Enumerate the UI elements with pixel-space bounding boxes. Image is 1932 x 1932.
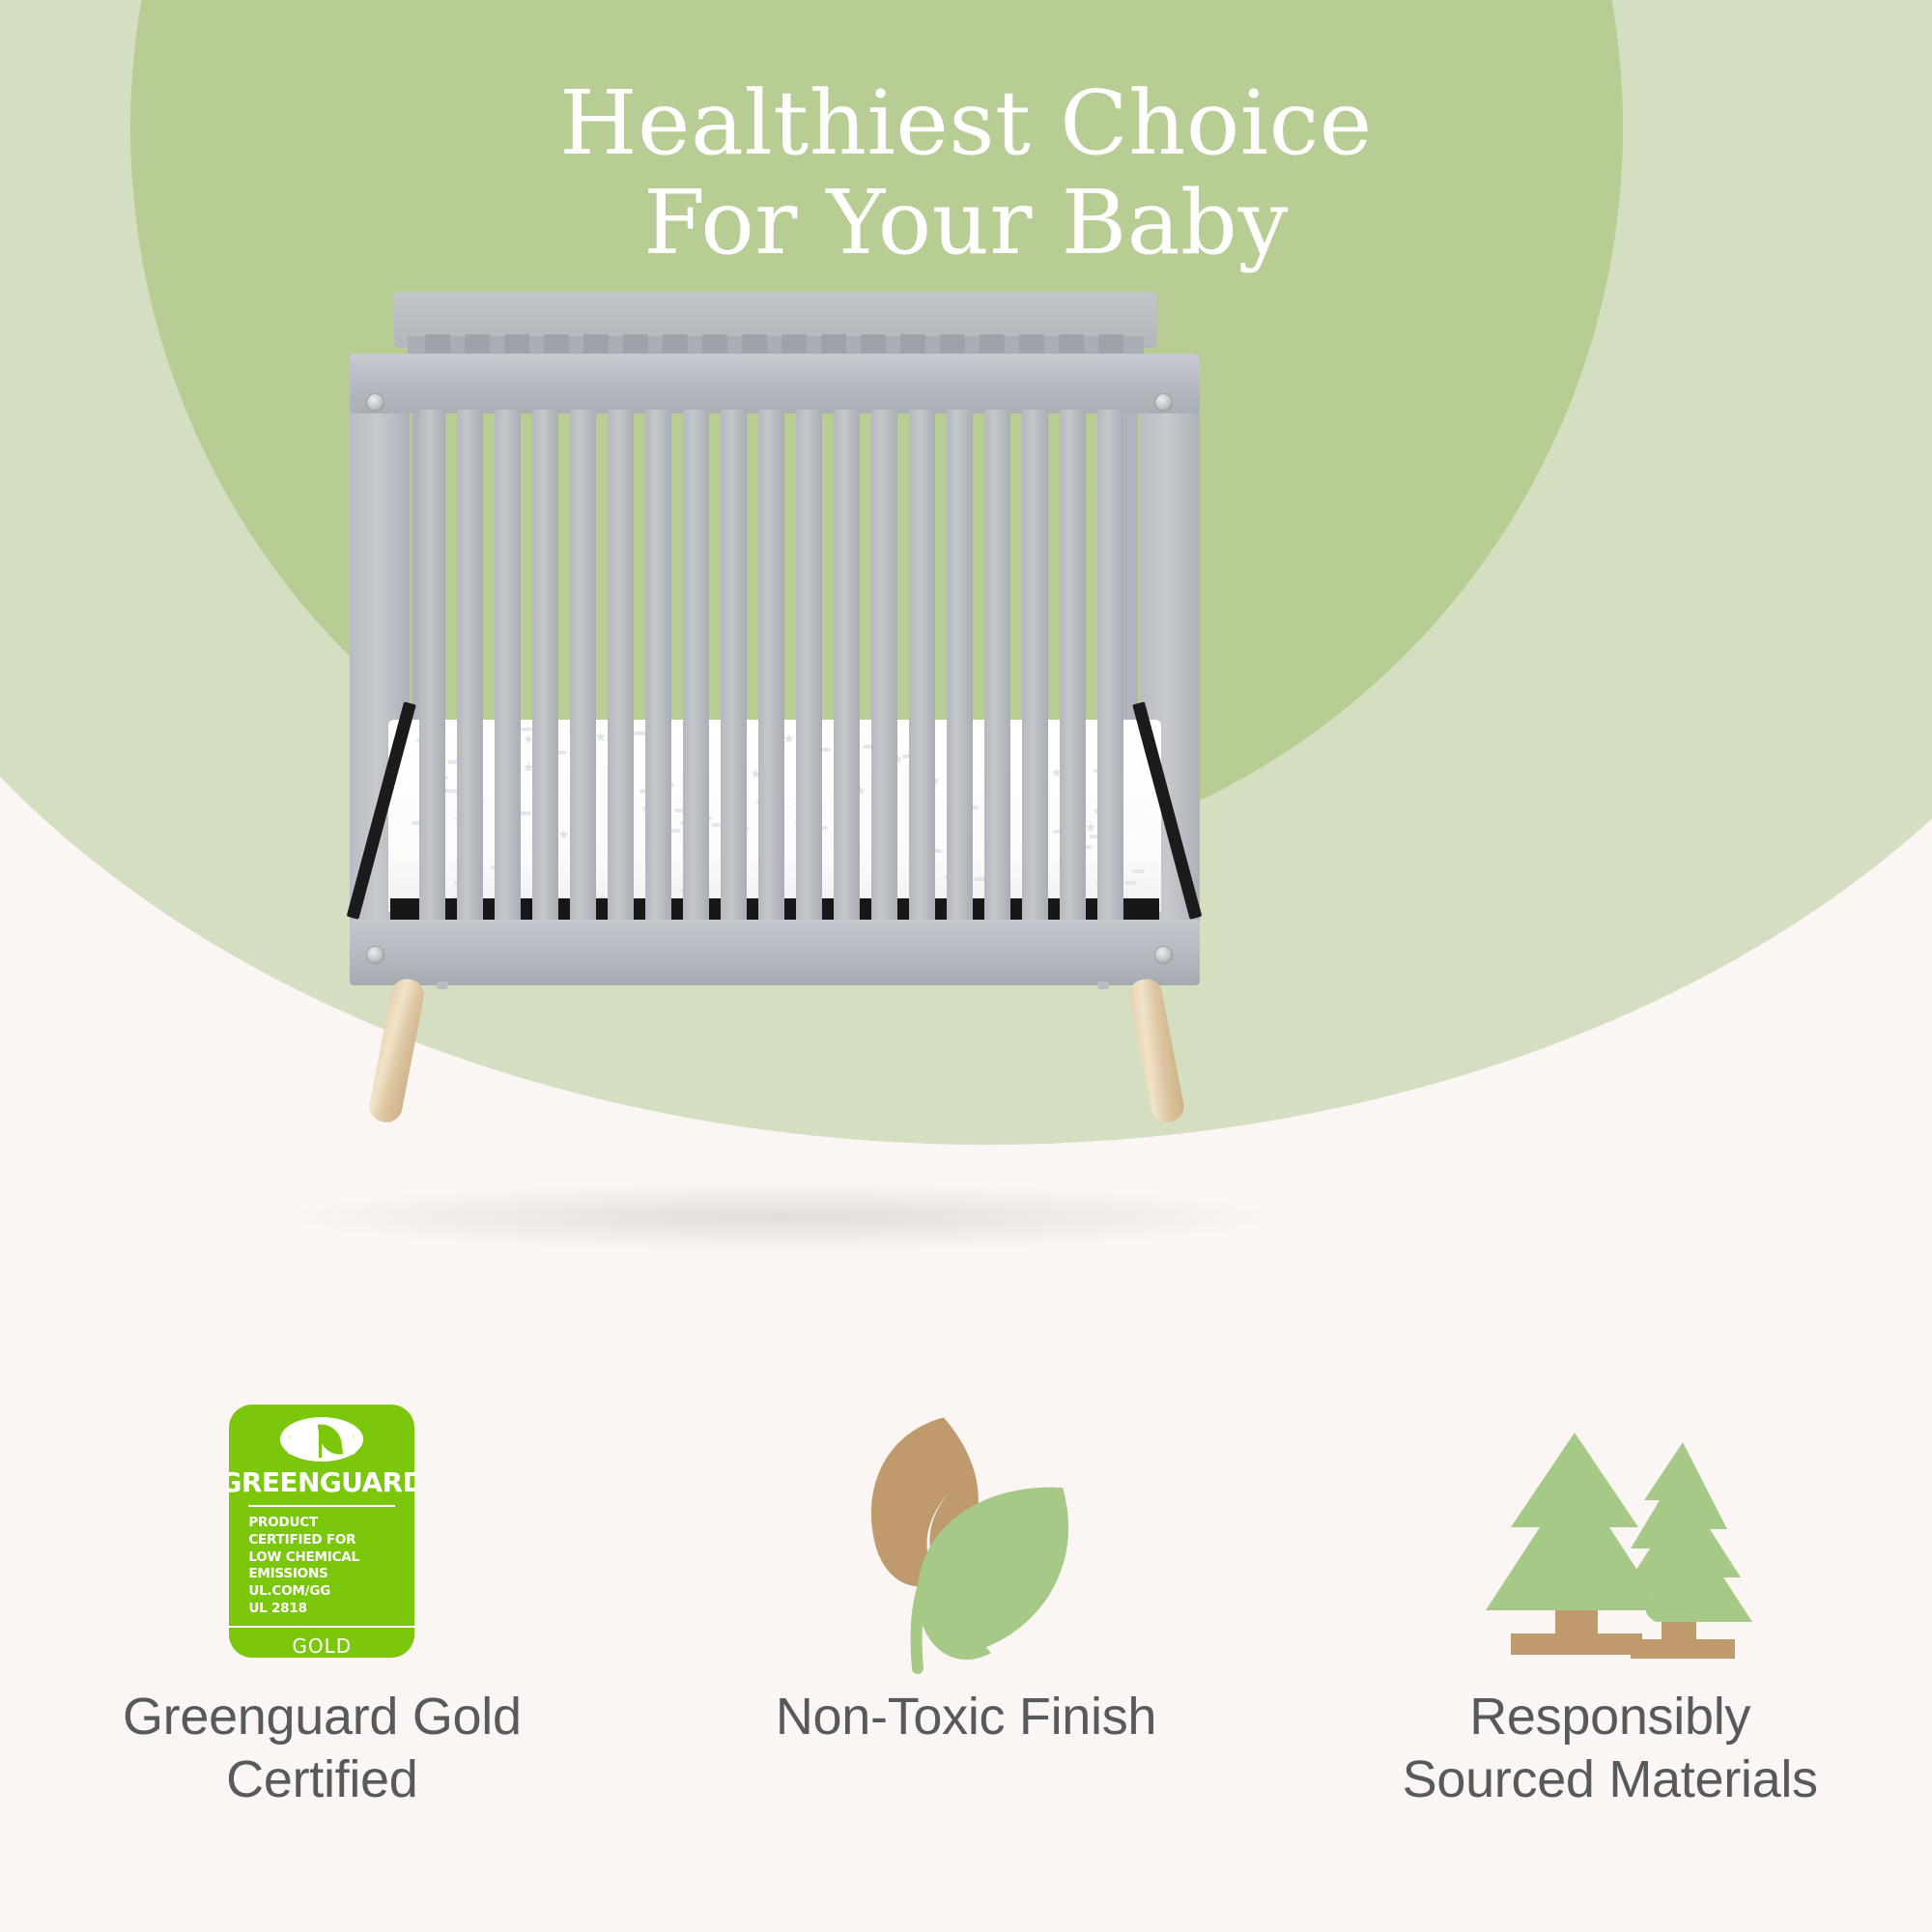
caption-greenguard-line-2: Certified [226,1750,417,1808]
badge-fine-print: PRODUCT CERTIFIED FOR LOW CHEMICAL EMISS… [248,1515,395,1618]
feature-greenguard: UL GREENGUARD PRODUCT CERTIFIED FOR LOW … [0,1372,644,1913]
crib-foot-screw-left [437,981,448,989]
badge-fine-line-4: UL 2818 [248,1601,395,1618]
crib-slat [608,410,634,970]
leaf-icon-wrapper [821,1372,1111,1690]
crib-slats [419,410,1134,970]
crib-slat [1097,410,1123,970]
crib-slat [984,410,1010,970]
leaf-icon [821,1386,1111,1676]
crib-screw-bottom-left [367,947,384,963]
feature-responsible-materials [1288,1372,1932,1913]
crib-top-rail [350,354,1200,413]
crib-product-image [319,280,1227,1130]
badge-divider-top [248,1505,395,1507]
trees-icon-wrapper [1451,1372,1770,1690]
crib-slat [947,410,973,970]
crib-slat [457,410,483,970]
greenguard-gold-badge-icon: UL GREENGUARD PRODUCT CERTIFIED FOR LOW … [229,1372,414,1690]
crib-leg-left [367,977,427,1125]
crib-foot-screw-right [1097,981,1109,989]
crib-slat [532,410,558,970]
crib-slat [834,410,860,970]
crib-slat [796,410,822,970]
crib-slat [909,410,935,970]
marketing-banner: Healthiest Choice For Your Baby [0,0,1932,1932]
badge-divider-bottom [229,1626,414,1628]
caption-non-toxic-line-1: Non-Toxic Finish [776,1688,1156,1746]
crib-leg-right [1126,977,1186,1125]
crib-slat [570,410,596,970]
caption-non-toxic: Non-Toxic Finish [776,1686,1156,1811]
badge-fine-line-3: UL.COM/GG [248,1583,395,1601]
crib-bottom-rail [350,920,1200,985]
headline-line-1: Healthiest Choice [559,71,1372,175]
crib-slat [1060,410,1086,970]
caption-materials: Responsibly Sourced Materials [1403,1686,1818,1811]
crib-slat [683,410,709,970]
crib-shadow [290,1183,1275,1251]
crib-screw-top-right [1155,394,1172,411]
crib-slat [758,410,784,970]
caption-cell-1: Greenguard Gold Certified [0,1676,644,1811]
greenguard-badge: UL GREENGUARD PRODUCT CERTIFIED FOR LOW … [229,1405,414,1658]
crib-slat [721,410,747,970]
headline-line-2: For Your Baby [0,173,1932,272]
crib-screw-top-left [367,394,384,411]
badge-fine-line-1: PRODUCT CERTIFIED FOR [248,1515,395,1549]
greenguard-wordmark: GREENGUARD [229,1466,414,1498]
caption-greenguard-line-1: Greenguard Gold [123,1688,522,1746]
crib-slat [645,410,671,970]
caption-cell-2: Non-Toxic Finish [644,1676,1289,1811]
caption-materials-line-1: Responsibly [1469,1688,1750,1746]
crib-slat [495,410,521,970]
crib-slat [871,410,897,970]
crib-slat [419,410,445,970]
feature-captions-row: Greenguard Gold Certified Non-Toxic Fini… [0,1676,1932,1811]
badge-level: GOLD [292,1634,352,1658]
crib-screw-bottom-right [1155,947,1172,963]
mattress-dash-print [1132,869,1145,873]
feature-icons-row: UL GREENGUARD PRODUCT CERTIFIED FOR LOW … [0,1372,1932,1913]
caption-cell-3: Responsibly Sourced Materials [1288,1676,1932,1811]
caption-greenguard: Greenguard Gold Certified [123,1686,522,1811]
feature-non-toxic [644,1372,1289,1913]
badge-fine-line-2: LOW CHEMICAL EMISSIONS [248,1549,395,1584]
ul-mark-icon: UL [280,1417,363,1462]
trees-icon [1451,1386,1770,1676]
headline: Healthiest Choice For Your Baby [0,73,1932,272]
caption-materials-line-2: Sourced Materials [1403,1750,1818,1808]
crib-slat [1022,410,1048,970]
